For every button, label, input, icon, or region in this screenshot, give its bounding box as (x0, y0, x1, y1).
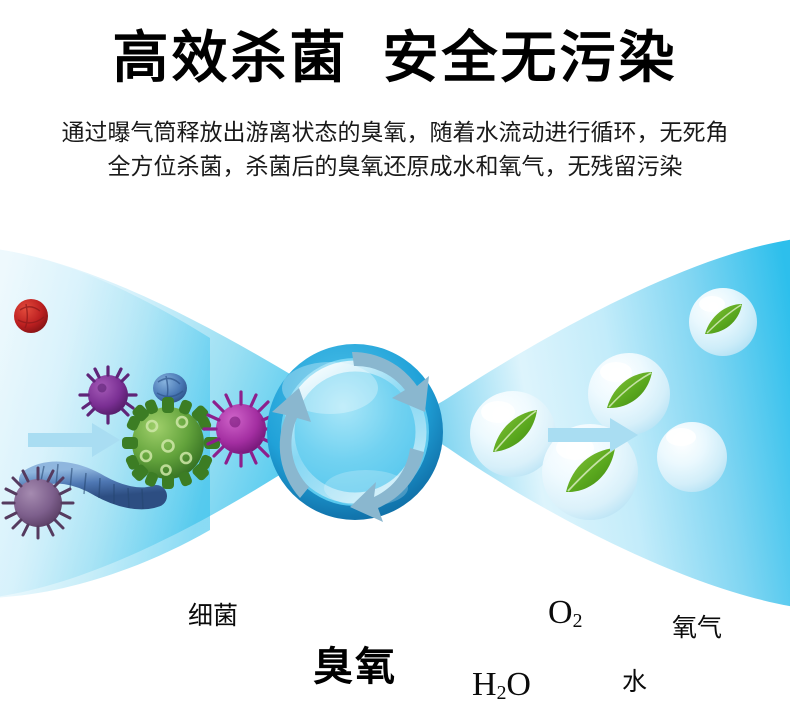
label-water-formula: H2O (472, 666, 531, 704)
subtitle-line-2: 全方位杀菌，杀菌后的臭氧还原成水和氧气，无残留污染 (0, 150, 790, 184)
page-title: 高效杀菌 安全无污染 (0, 28, 790, 90)
microbe-purple-spiky-small (80, 367, 136, 423)
ozone-center-label: 臭氧 (295, 634, 415, 692)
microbe-green-virus (122, 397, 220, 489)
ozone-sphere (267, 344, 443, 522)
diagram-artwork (0, 230, 790, 630)
bubble-plain (657, 422, 727, 492)
label-bacteria: 细菌 (188, 596, 238, 632)
microbe-mauve-spiky (3, 468, 73, 538)
ozone-cycle-diagram: 细菌 霉菌 O2 H2O 氧气 水 臭氧 (0, 230, 790, 630)
subtitle-line-1: 通过曝气筒释放出游离状态的臭氧，随着水流动进行循环，无死角 (0, 116, 790, 150)
water-formula-o: O (506, 666, 531, 703)
oxygen-formula-element: O (548, 594, 573, 631)
oxygen-formula-subscript: 2 (573, 610, 583, 632)
label-oxygen-cn: 氧气 (672, 608, 722, 644)
water-formula-h: H (472, 666, 497, 703)
label-oxygen-formula: O2 (548, 594, 582, 632)
bubble-leaf-3 (689, 288, 757, 356)
page-subtitle: 通过曝气筒释放出游离状态的臭氧，随着水流动进行循环，无死角 全方位杀菌，杀菌后的… (0, 116, 790, 184)
poster-canvas: 高效杀菌 安全无污染 通过曝气筒释放出游离状态的臭氧，随着水流动进行循环，无死角… (0, 0, 790, 706)
water-formula-subscript: 2 (497, 682, 507, 704)
label-water-cn: 水 (622, 662, 647, 698)
bubble-leaf-2 (588, 353, 670, 435)
microbe-magenta-spiky (204, 392, 278, 466)
microbe-red (14, 299, 48, 333)
